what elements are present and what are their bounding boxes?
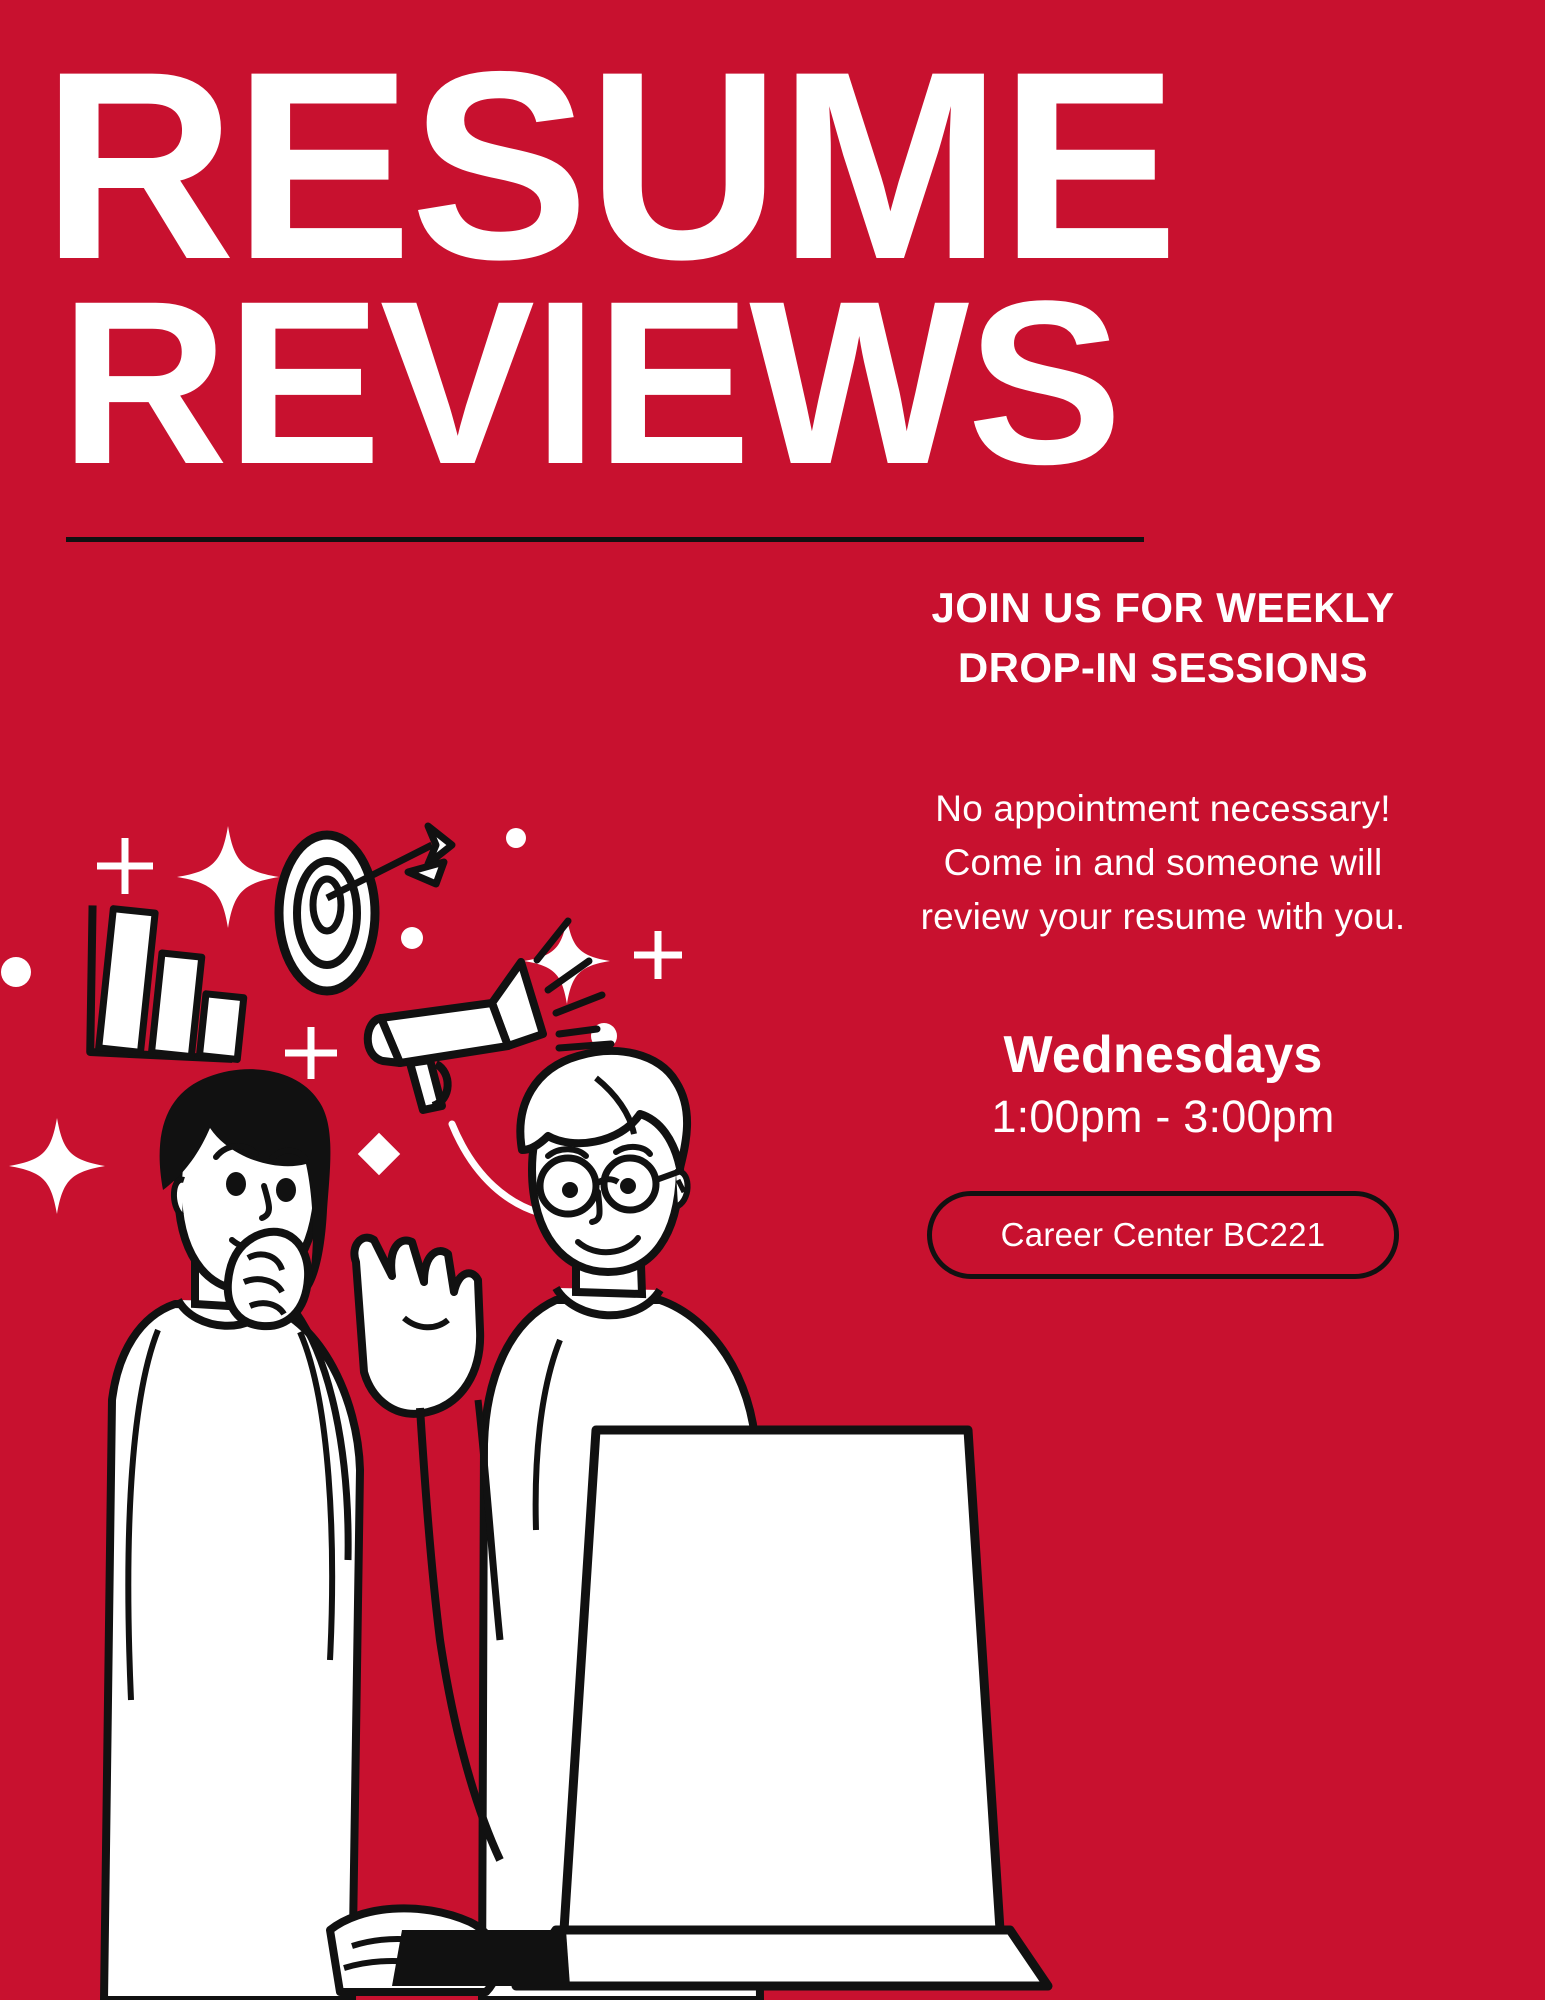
- dot-5: [248, 1301, 284, 1337]
- sparkle-1: [177, 826, 279, 928]
- title-divider-rule: [66, 537, 1144, 542]
- dot-1: [1, 957, 31, 987]
- dot-2: [506, 828, 526, 848]
- diamond-1: [358, 1133, 400, 1175]
- subheading-line-1: JOIN US FOR WEEKLY: [843, 578, 1483, 638]
- body-copy: No appointment necessary! Come in and so…: [843, 782, 1483, 943]
- plus-3: [634, 931, 682, 979]
- megaphone-icon: [368, 921, 611, 1213]
- sparkle-3: [9, 1118, 105, 1214]
- subheading-line-2: DROP-IN SESSIONS: [843, 638, 1483, 698]
- body-copy-line-3: review your resume with you.: [843, 890, 1483, 944]
- session-time: 1:00pm - 3:00pm: [843, 1091, 1483, 1143]
- plus-1: [97, 838, 153, 894]
- target-with-arrow-icon: [279, 826, 452, 991]
- bar-chart-icon: [77, 905, 251, 1067]
- laptop-illustration: [392, 1430, 1048, 1986]
- dot-4: [591, 1023, 617, 1049]
- person-thinking-illustration: [104, 1069, 360, 2000]
- dot-3: [401, 927, 423, 949]
- poster-title: RESUME REVIEWS: [42, 58, 1192, 477]
- body-copy-line-2: Come in and someone will: [843, 836, 1483, 890]
- body-copy-line-1: No appointment necessary!: [843, 782, 1483, 836]
- poster-canvas: RESUME REVIEWS JOIN US FOR WEEKLY DROP-I…: [0, 0, 1545, 2000]
- subheading: JOIN US FOR WEEKLY DROP-IN SESSIONS: [843, 578, 1483, 697]
- person-with-glasses-illustration: [330, 1051, 760, 2000]
- location-badge: Career Center BC221: [927, 1191, 1399, 1279]
- plus-2: [285, 1027, 337, 1079]
- info-column: JOIN US FOR WEEKLY DROP-IN SESSIONS No a…: [843, 578, 1483, 1279]
- title-line-resume: RESUME: [42, 58, 1192, 272]
- sparkle-2: [524, 918, 610, 1004]
- title-line-reviews: REVIEWS: [60, 290, 1192, 476]
- session-day: Wednesdays: [843, 1025, 1483, 1085]
